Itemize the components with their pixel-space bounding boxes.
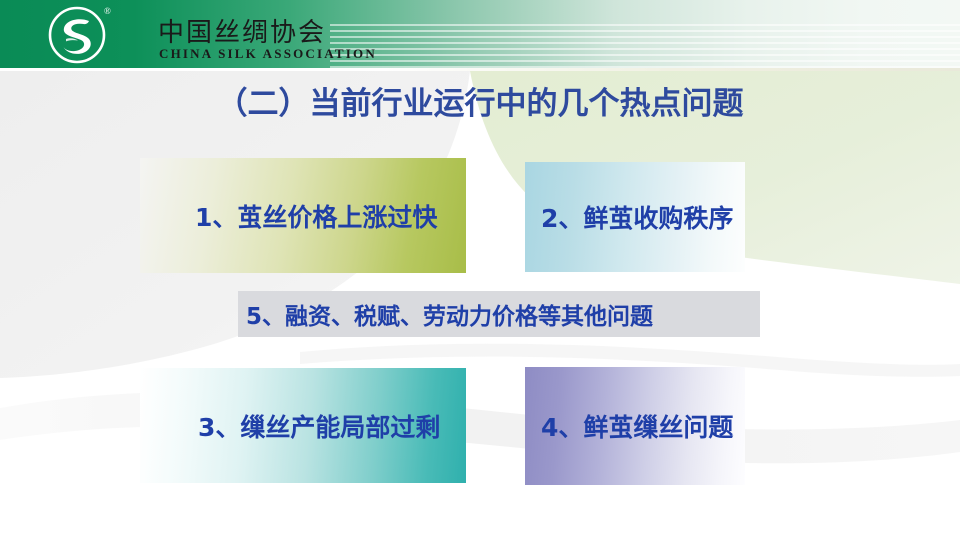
logo-name-english: CHINA SILK ASSOCIATION [159,47,377,61]
topic-box-3[interactable]: 3、缫丝产能局部过剩 [140,368,466,483]
topic-box-4-label: 4、鲜茧缫丝问题 [525,408,733,444]
topic-box-2-label: 2、鲜茧收购秩序 [525,199,733,235]
topic-box-4[interactable]: 4、鲜茧缫丝问题 [525,367,745,485]
header-stripe-texture [330,24,960,68]
slide-canvas: ® 中国丝绸协会 CHINA SILK ASSOCIATION （二）当前行业运… [0,0,960,540]
topic-box-1[interactable]: 1、茧丝价格上涨过快 [140,158,466,273]
logo-name-chinese: 中国丝绸协会 [158,19,326,47]
topic-box-3-label: 3、缫丝产能局部过剩 [140,408,440,444]
page-title: （二）当前行业运行中的几个热点问题 [0,84,960,124]
silk-association-logo-icon [48,6,106,64]
topic-box-5-label: 5、融资、税赋、劳动力价格等其他问题 [238,297,653,331]
registered-trademark-icon: ® [104,7,111,16]
header-band [0,0,960,68]
topic-box-1-label: 1、茧丝价格上涨过快 [140,198,437,234]
topic-box-2[interactable]: 2、鲜茧收购秩序 [525,162,745,272]
topic-box-5[interactable]: 5、融资、税赋、劳动力价格等其他问题 [238,291,760,337]
header-bottom-edge [0,68,960,71]
